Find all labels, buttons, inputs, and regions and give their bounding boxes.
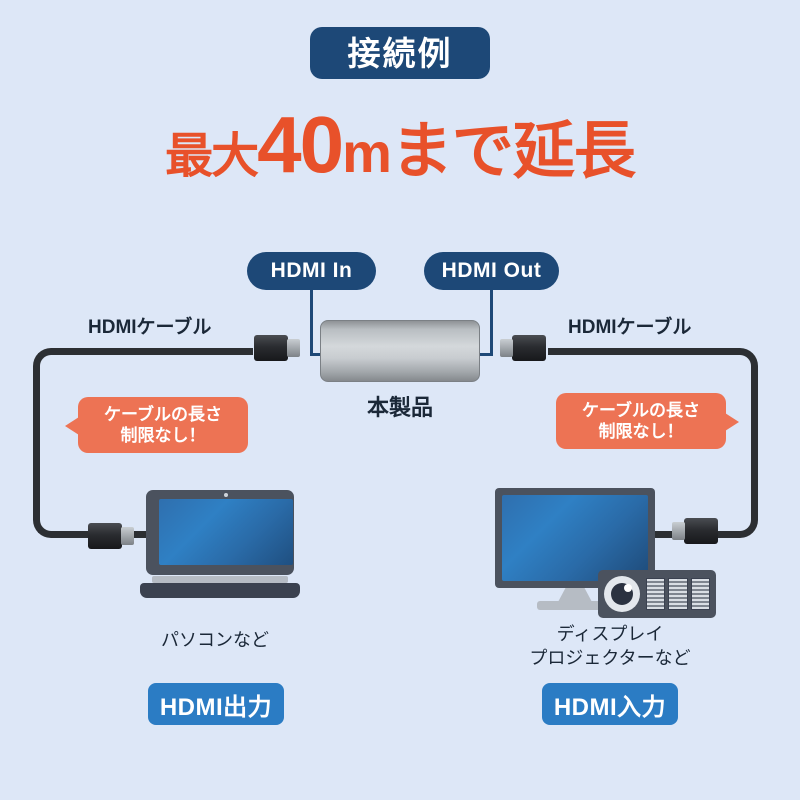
projector-vent-panel — [646, 578, 665, 610]
laptop-hinge — [152, 576, 288, 583]
plug-shell — [684, 518, 718, 544]
sink-side-caption: ディスプレイ プロジェクターなど — [490, 622, 730, 671]
cable-label-right: HDMIケーブル — [568, 312, 691, 339]
source-caption-line1: パソコンなど — [100, 628, 330, 652]
source-side-caption: パソコンなど — [100, 628, 330, 652]
hdmi-plug-icon-into-laptop — [88, 523, 134, 549]
callout-left: ケーブルの長さ 制限なし！ — [78, 397, 248, 453]
plug-shell — [88, 523, 122, 549]
callout-right: ケーブルの長さ 制限なし！ — [556, 393, 726, 449]
sink-caption-line2: プロジェクターなど — [490, 646, 730, 670]
callout-right-line1: ケーブルの長さ — [582, 400, 700, 421]
headline: 最大40mまで延長 — [0, 105, 800, 185]
label-hdmi-in: HDMI In — [247, 252, 376, 290]
projector-body — [598, 570, 716, 618]
plug-tip — [287, 339, 300, 357]
headline-unit: m — [342, 121, 391, 184]
monitor-screen — [502, 495, 648, 581]
hdmi-plug-icon-into-device-in — [254, 335, 300, 361]
laptop-lid — [146, 490, 294, 575]
projector-vent-panel — [668, 578, 687, 610]
product-device-body — [320, 320, 480, 382]
leader-in-drop — [310, 333, 313, 356]
projector-vent-panel — [691, 578, 710, 610]
plug-shell — [512, 335, 546, 361]
projector-lens-highlight — [624, 584, 632, 592]
projector-icon — [598, 570, 716, 618]
projector-vents — [646, 578, 710, 610]
leader-in-vertical — [310, 290, 313, 335]
leader-out-drop — [490, 333, 493, 356]
plug-tip — [672, 522, 685, 540]
callout-left-line2: 制限なし！ — [121, 425, 206, 446]
headline-number: 40 — [257, 100, 342, 189]
headline-suffix: まで延長 — [391, 117, 635, 186]
badge-hdmi-output: HDMI出力 — [148, 683, 284, 725]
laptop-base — [140, 583, 300, 598]
leader-out-vertical — [490, 290, 493, 335]
headline-prefix: 最大 — [165, 130, 257, 183]
page-title-badge: 接続例 — [310, 27, 490, 79]
callout-left-line1: ケーブルの長さ — [104, 404, 222, 425]
callout-tail-icon — [725, 413, 739, 431]
callout-right-line2: 制限なし！ — [599, 421, 684, 442]
callout-tail-icon — [65, 417, 79, 435]
product-device-caption: 本製品 — [320, 390, 480, 422]
plug-tip — [121, 527, 134, 545]
label-hdmi-out: HDMI Out — [424, 252, 559, 290]
connection-example-diagram: 接続例 最大40mまで延長 HDMI In HDMI Out HDMIケーブル … — [0, 0, 800, 800]
hdmi-plug-icon-into-device-out — [500, 335, 546, 361]
sink-caption-line1: ディスプレイ — [490, 622, 730, 646]
laptop-screen — [159, 499, 293, 565]
monitor-stand-neck — [558, 588, 592, 602]
badge-hdmi-input: HDMI入力 — [542, 683, 678, 725]
webcam-icon — [224, 493, 228, 497]
hdmi-plug-icon-into-display — [672, 518, 718, 544]
laptop-icon — [140, 490, 300, 610]
plug-tip — [500, 339, 513, 357]
plug-shell — [254, 335, 288, 361]
cable-label-left: HDMIケーブル — [88, 312, 211, 339]
